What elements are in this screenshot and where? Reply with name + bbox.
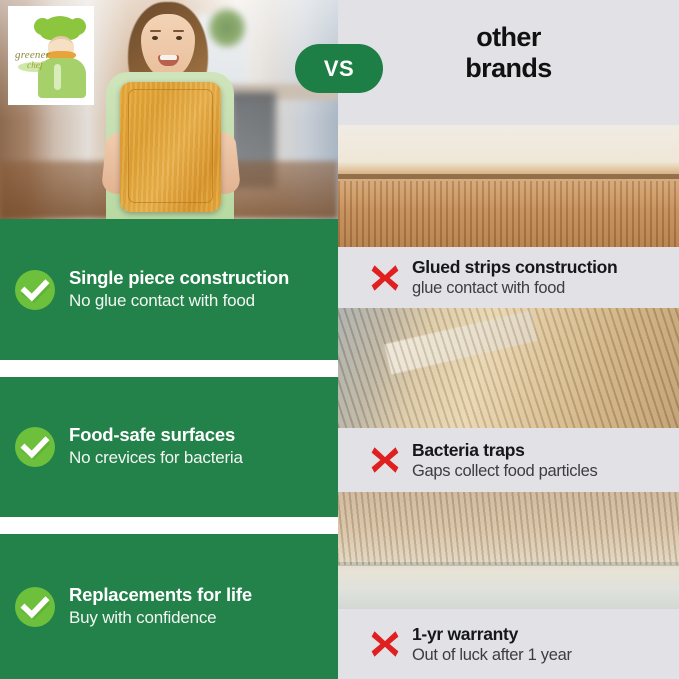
girl-eyebrow-right — [173, 30, 184, 32]
drawback-title: 1-yr warranty — [412, 624, 572, 645]
logo-wordmark-secondary: chef — [27, 60, 67, 70]
drawback-row-2: Bacteria traps Gaps collect food particl… — [338, 428, 679, 492]
plant-blur — [206, 6, 248, 50]
other-brands-heading: other brands — [338, 22, 679, 84]
feature-subtitle: No glue contact with food — [69, 290, 289, 311]
check-circle-icon — [14, 586, 56, 628]
other-brands-heading-line1: other — [338, 22, 679, 53]
feature-text-1: Single piece construction No glue contac… — [69, 267, 289, 313]
feature-row-3: Replacements for life Buy with confidenc… — [0, 534, 338, 679]
wood-texture — [338, 308, 679, 428]
feature-title: Replacements for life — [69, 584, 252, 606]
drawback-title: Bacteria traps — [412, 440, 597, 461]
glued-strip-board-photo — [338, 125, 679, 247]
logo-wordmark: greener chef — [15, 50, 67, 70]
wood-texture — [338, 125, 679, 247]
vs-label: VS — [324, 56, 354, 82]
drawback-row-3: 1-yr warranty Out of luck after 1 year — [338, 609, 679, 679]
chipped-area — [384, 311, 537, 375]
greener-chef-column: greener chef Single piece construction N… — [0, 0, 338, 679]
feature-text-3: Replacements for life Buy with confidenc… — [69, 584, 252, 630]
drawback-text-2: Bacteria traps Gaps collect food particl… — [412, 440, 597, 481]
brand-logo-card: greener chef — [8, 6, 94, 105]
feature-text-2: Food-safe surfaces No crevices for bacte… — [69, 424, 243, 470]
red-x-icon — [370, 263, 400, 293]
greener-chef-logo-icon: greener chef — [12, 12, 90, 100]
drawback-subtitle: Out of luck after 1 year — [412, 645, 572, 665]
comparison-infographic: greener chef Single piece construction N… — [0, 0, 679, 679]
drawback-text-3: 1-yr warranty Out of luck after 1 year — [412, 624, 572, 665]
drawback-subtitle: Gaps collect food particles — [412, 461, 597, 481]
surface-seam — [338, 562, 679, 566]
drawback-title: Glued strips construction — [412, 257, 617, 278]
board-juice-groove — [128, 89, 213, 203]
check-circle-icon — [14, 426, 56, 468]
wood-texture — [338, 492, 679, 609]
drawback-text-1: Glued strips construction glue contact w… — [412, 257, 617, 298]
drawback-row-1: Glued strips construction glue contact w… — [338, 247, 679, 308]
feature-row-2: Food-safe surfaces No crevices for bacte… — [0, 377, 338, 517]
feature-title: Food-safe surfaces — [69, 424, 243, 446]
red-x-icon — [370, 629, 400, 659]
other-brands-heading-line2: brands — [338, 53, 679, 84]
glue-seam — [338, 174, 679, 179]
vs-badge: VS — [295, 44, 383, 93]
feature-subtitle: No crevices for bacteria — [69, 447, 243, 468]
girl-eyebrow-left — [150, 30, 161, 32]
other-brands-column: other brands Glued strips construction g… — [338, 0, 679, 679]
feature-row-1: Single piece construction No glue contac… — [0, 219, 338, 360]
chipped-edge-board-photo — [338, 308, 679, 428]
feature-subtitle: Buy with confidence — [69, 607, 252, 628]
girl-eye-right — [176, 36, 182, 40]
check-circle-icon — [14, 269, 56, 311]
red-x-icon — [370, 445, 400, 475]
worn-board-surface-photo — [338, 492, 679, 609]
drawback-subtitle: glue contact with food — [412, 278, 617, 298]
girl-eye-left — [152, 36, 158, 40]
logo-wordmark-primary: greener — [15, 49, 50, 61]
bamboo-cutting-board — [120, 82, 221, 212]
feature-title: Single piece construction — [69, 267, 289, 289]
